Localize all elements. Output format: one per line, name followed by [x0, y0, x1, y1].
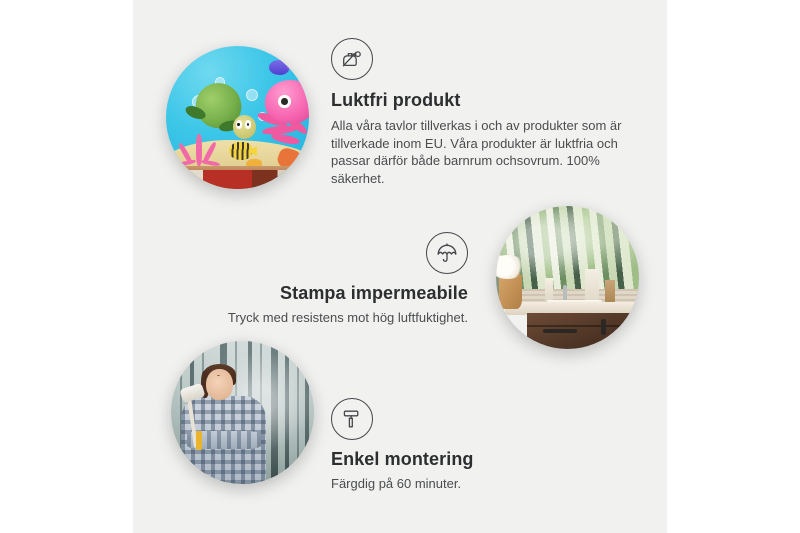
cabinet-handle: [543, 329, 576, 333]
octopus-head: [265, 80, 309, 123]
feature-title: Stampa impermeabile: [206, 283, 468, 304]
fish-yellow-striped: [229, 142, 252, 161]
octopus-tentacle: [271, 132, 301, 146]
cabinet-seam: [527, 325, 639, 327]
feature-body: Alla våra tavlor tillverkas i och av pro…: [331, 117, 623, 187]
paint-roller-grip: [196, 431, 202, 450]
painter-illustration: [171, 341, 314, 484]
coral: [177, 129, 220, 166]
photo-lower-edge: [166, 170, 309, 189]
feature-waterproof: Stampa impermeabile Tryck med resistens …: [206, 232, 468, 327]
face: [206, 369, 233, 400]
woman-with-paint-roller: [180, 364, 269, 484]
fish-blue: [269, 60, 289, 74]
product-photo-painter: [171, 341, 314, 484]
product-photo-bathroom: [496, 206, 639, 349]
feature-body: Tryck med resistens mot hög luftfuktighe…: [206, 309, 468, 327]
turtle-eye: [236, 120, 242, 128]
bathroom-illustration: [496, 206, 639, 349]
white-flowers: [496, 255, 525, 279]
toiletry-bottle: [545, 278, 554, 304]
feature-title: Luktfri produkt: [331, 90, 623, 111]
feature-title: Enkel montering: [331, 449, 593, 470]
feature-easy-mount: Enkel montering Färgdig på 60 minuter.: [331, 398, 593, 493]
product-photo-underwater: [166, 46, 309, 189]
perfume-bottle-crossed-out-icon: [331, 38, 373, 80]
cabinet-handle: [601, 319, 606, 335]
promo-page: Luktfri produkt Alla våra tavlor tillver…: [0, 0, 800, 533]
smile: [217, 375, 220, 376]
umbrella-icon: [426, 232, 468, 274]
turtle-eye: [245, 120, 251, 128]
turtle-head: [233, 115, 256, 139]
wooden-vanity-cabinet: [527, 313, 639, 349]
octopus-eye: [278, 95, 291, 109]
feature-body: Färgdig på 60 minuter.: [331, 475, 593, 493]
feature-odorless: Luktfri produkt Alla våra tavlor tillver…: [331, 38, 623, 187]
octopus: [255, 80, 309, 149]
underwater-illustration: [166, 46, 309, 189]
paint-roller-icon: [331, 398, 373, 440]
